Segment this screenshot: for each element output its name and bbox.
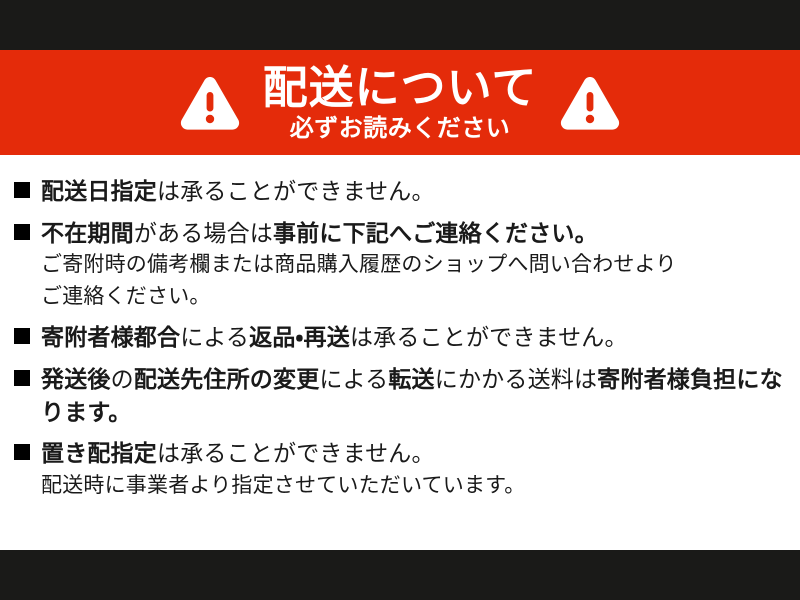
bullet-square-icon — [14, 328, 30, 344]
notice-item-body: 寄附者様都合による返品・再送は承ることができません。 — [41, 321, 786, 354]
notice-text-segment: 不在期間 — [41, 220, 134, 246]
notice-text-segment: 寄附者様都合 — [41, 324, 180, 350]
notice-item: 配送日指定は承ることができません。 — [14, 175, 786, 208]
notice-text-segment: の — [111, 366, 134, 392]
notice-text-segment: は承ることができません。 — [157, 178, 435, 204]
notice-text-segment: 発送後 — [41, 366, 111, 392]
notice-subline: ご寄附時の備考欄または商品購入履歴のショップへ問い合わせより — [41, 249, 786, 281]
bullet-square-icon — [14, 224, 30, 240]
bullet-square-icon — [14, 444, 30, 460]
notice-text-segment: は — [574, 366, 597, 392]
notice-item-body: 配送日指定は承ることができません。 — [41, 175, 786, 208]
notice-text-segment: 配送先住所の変更 — [134, 366, 320, 392]
notice-headline: 配送日指定は承ることができません。 — [41, 175, 786, 208]
notice-headline: 不在期間がある場合は事前に下記へご連絡ください。 — [41, 217, 786, 250]
notice-text-segment: 配送日指定 — [41, 178, 157, 204]
warning-triangle-icon-right — [559, 74, 621, 132]
notice-item: 不在期間がある場合は事前に下記へご連絡ください。ご寄附時の備考欄または商品購入履… — [14, 217, 786, 313]
notice-text-segment: による — [180, 324, 249, 350]
notice-item-main: 不在期間がある場合は事前に下記へご連絡ください。ご寄附時の備考欄または商品購入履… — [14, 217, 786, 313]
top-black-band — [0, 0, 800, 50]
delivery-notice-banner: 配送について 必ずお読みください 配送日指定は承ることができません。不在期間があ… — [0, 0, 800, 600]
notice-text-segment: 置き配指定 — [41, 440, 157, 466]
bottom-black-band — [0, 550, 800, 600]
notice-headline: 発送後の配送先住所の変更による転送にかかる送料は寄附者様負担になります。 — [41, 363, 786, 428]
notice-text-segment: 送料 — [528, 366, 574, 392]
notice-item: 寄附者様都合による返品・再送は承ることができません。 — [14, 321, 786, 354]
notice-text-segment: 事前に下記へご連絡ください。 — [273, 220, 598, 246]
notice-headline: 置き配指定は承ることができません。 — [41, 437, 786, 470]
notice-text-segment: がある場合は — [134, 220, 273, 246]
warning-triangle-icon-left — [179, 74, 241, 132]
notice-item-body: 不在期間がある場合は事前に下記へご連絡ください。ご寄附時の備考欄または商品購入履… — [41, 217, 786, 313]
notice-item-main: 発送後の配送先住所の変更による転送にかかる送料は寄附者様負担になります。 — [14, 363, 786, 428]
bullet-square-icon — [14, 370, 30, 386]
notice-item-body: 発送後の配送先住所の変更による転送にかかる送料は寄附者様負担になります。 — [41, 363, 786, 428]
notice-item-main: 配送日指定は承ることができません。 — [14, 175, 786, 208]
notice-item: 置き配指定は承ることができません。配送時に事業者より指定させていただいています。 — [14, 437, 786, 501]
notice-list: 配送日指定は承ることができません。不在期間がある場合は事前に下記へご連絡ください… — [0, 155, 800, 550]
notice-text-segment: は承ることができません。 — [350, 324, 628, 350]
notice-subline: 配送時に事業者より指定させていただいています。 — [41, 470, 786, 502]
notice-item-body: 置き配指定は承ることができません。配送時に事業者より指定させていただいています。 — [41, 437, 786, 501]
notice-item-main: 置き配指定は承ることができません。配送時に事業者より指定させていただいています。 — [14, 437, 786, 501]
bullet-square-icon — [14, 182, 30, 198]
notice-text-segment: にかかる — [435, 366, 528, 392]
notice-text-segment: は承ることができません。 — [157, 440, 435, 466]
page-title: 配送について — [263, 64, 538, 113]
banner-header: 配送について 必ずお読みください — [0, 50, 800, 155]
notice-text-segment: 返品・再送 — [249, 324, 350, 350]
notice-subline: ご連絡ください。 — [41, 281, 786, 313]
notice-text-segment: 寄附者様負担 — [597, 366, 736, 392]
notice-text-segment: 転送 — [388, 366, 434, 392]
notice-item-main: 寄附者様都合による返品・再送は承ることができません。 — [14, 321, 786, 354]
notice-text-segment: による — [319, 366, 388, 392]
header-text-group: 配送について 必ずお読みください — [263, 64, 538, 141]
header-subtitle: 必ずお読みください — [290, 117, 511, 141]
notice-headline: 寄附者様都合による返品・再送は承ることができません。 — [41, 321, 786, 354]
notice-item: 発送後の配送先住所の変更による転送にかかる送料は寄附者様負担になります。 — [14, 363, 786, 428]
